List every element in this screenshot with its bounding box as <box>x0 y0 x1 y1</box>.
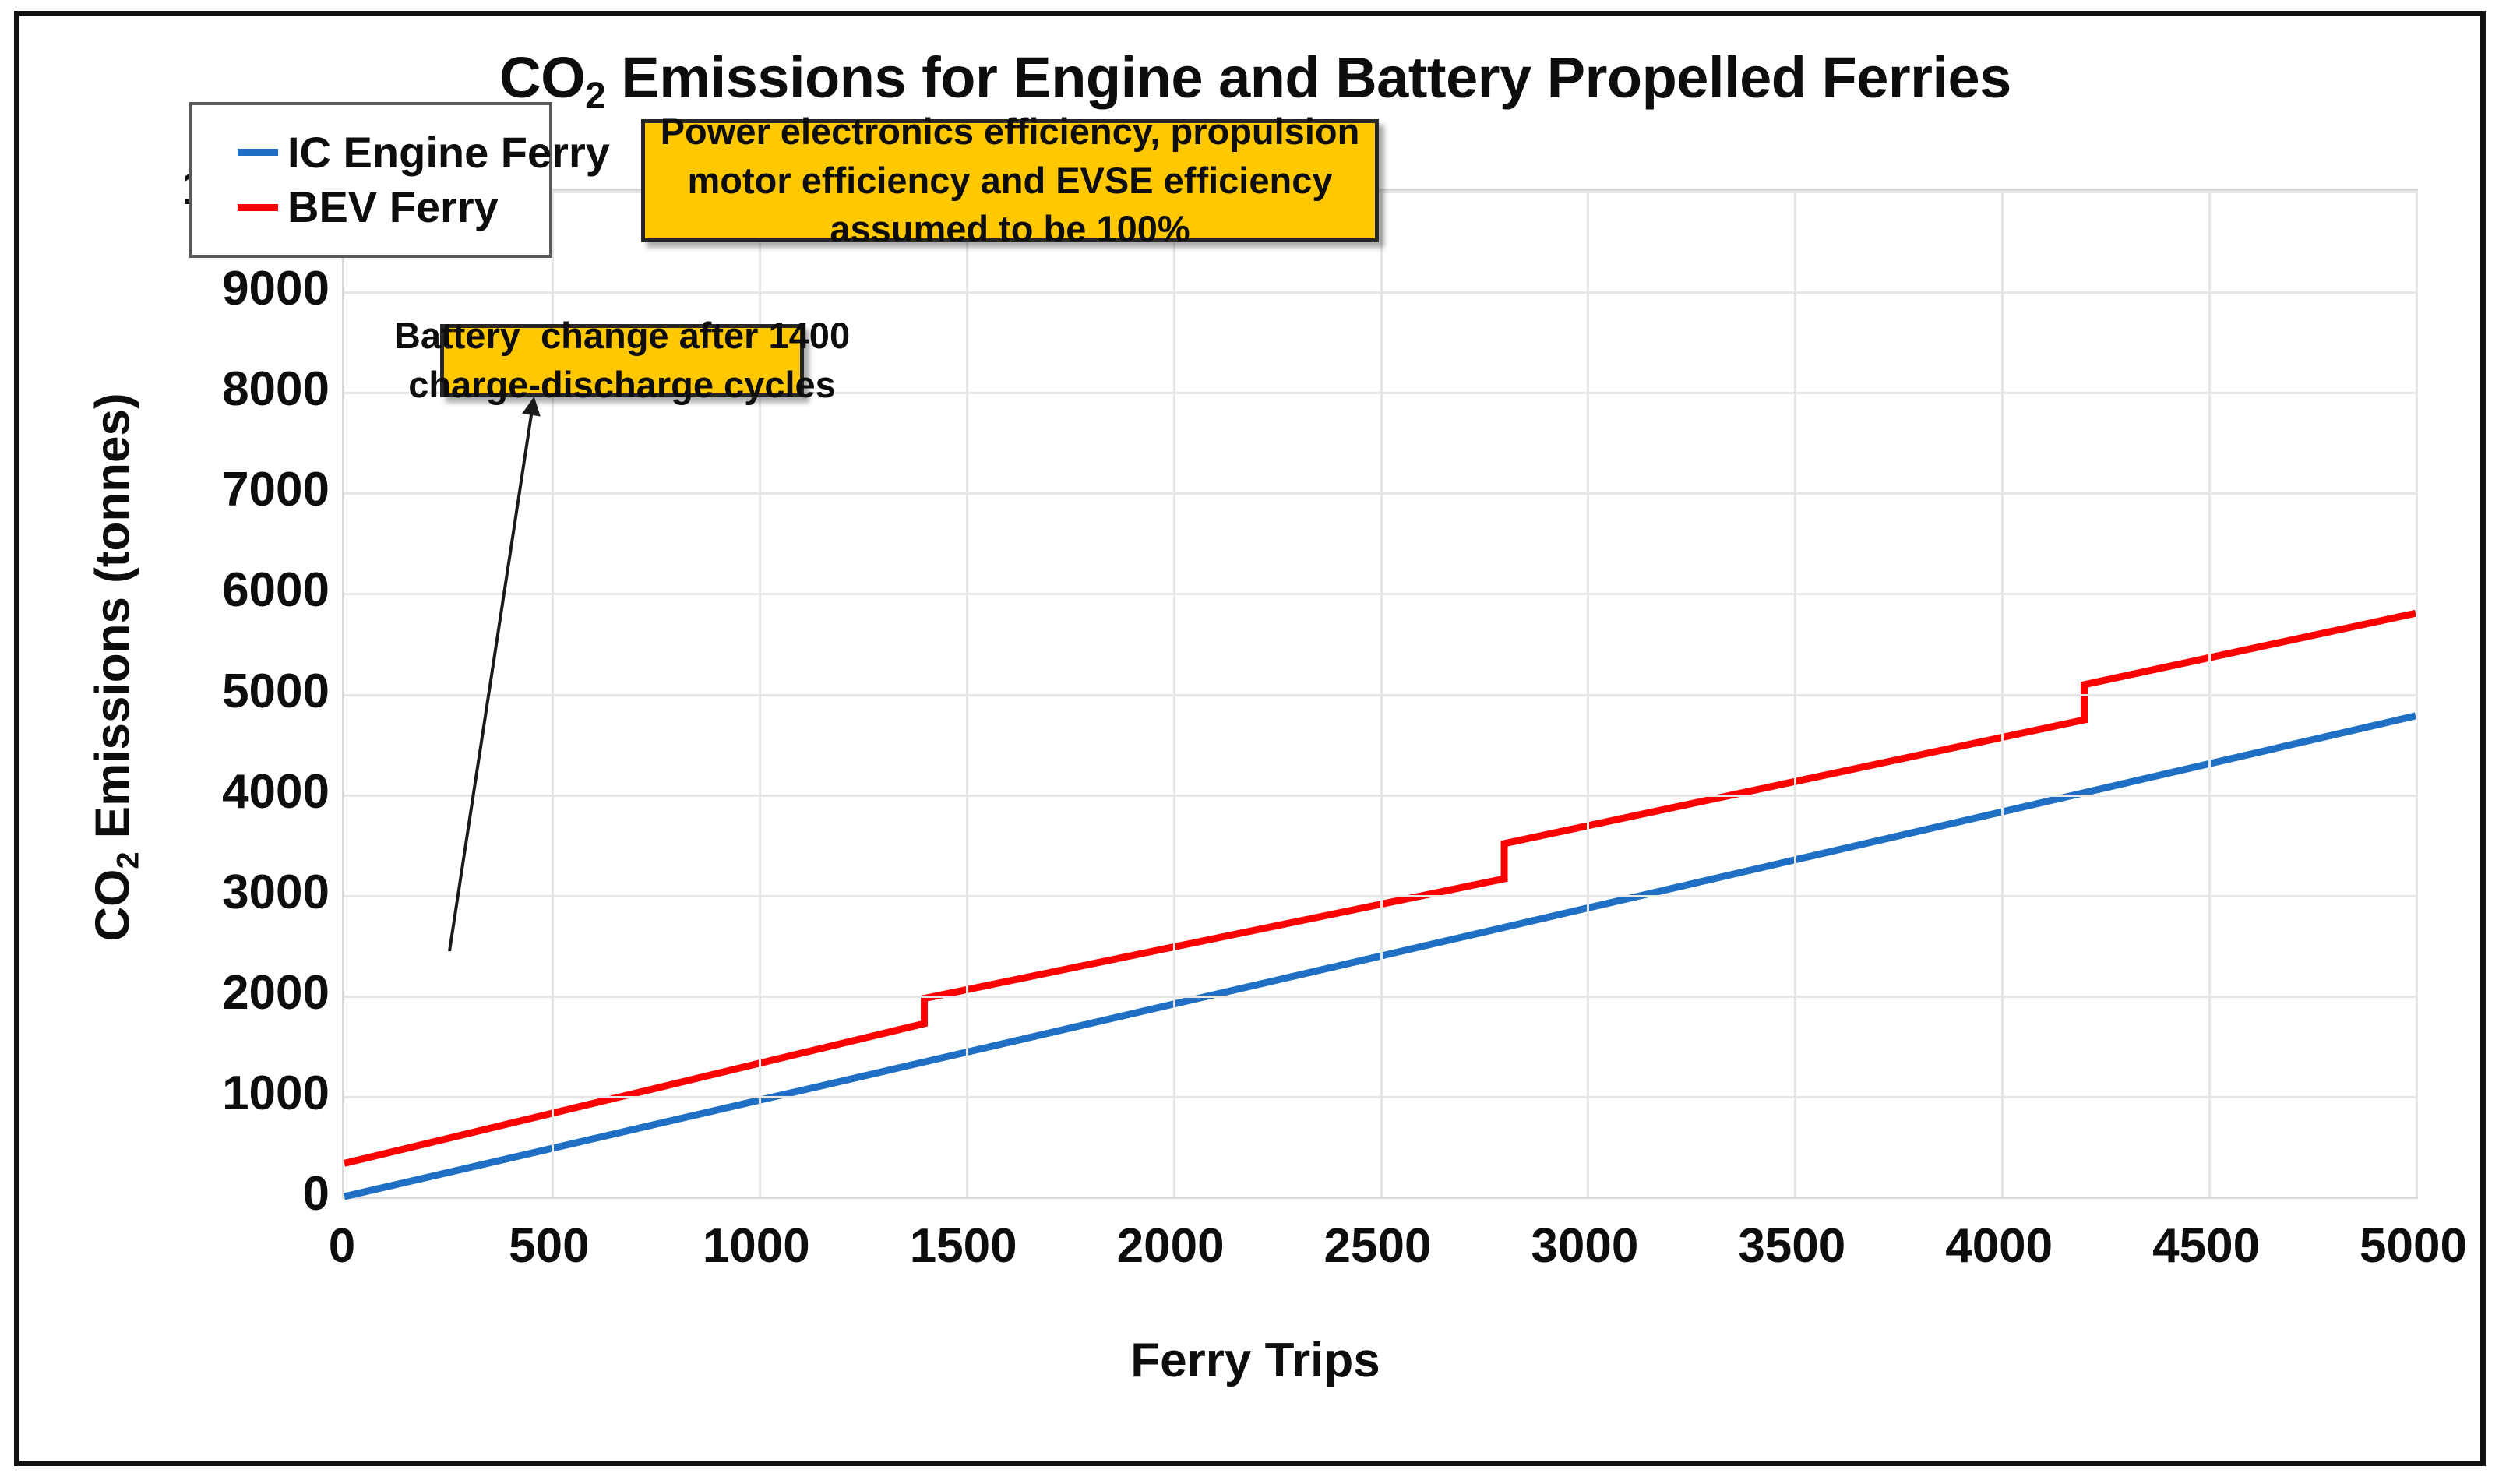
gridline-vertical <box>1794 191 1796 1197</box>
x-axis-tick-label: 1500 <box>847 1222 1080 1271</box>
annotation-text: Battery change after 1400charge-discharg… <box>394 312 850 410</box>
x-axis-tick-labels: 0500100015002000250030003500400045005000 <box>342 1222 2418 1285</box>
y-axis-tick-label: 3000 <box>80 869 330 917</box>
x-axis-tick-label: 2000 <box>1054 1222 1288 1271</box>
gridline-vertical <box>2001 191 2004 1197</box>
chart-title: CO2 Emissions for Engine and Battery Pro… <box>19 49 2491 107</box>
y-axis-tick-label: 4000 <box>80 768 330 816</box>
chart-title-subscript: 2 <box>585 76 605 117</box>
gridline-vertical <box>2416 191 2418 1197</box>
x-axis-tick-label: 3000 <box>1468 1222 1701 1271</box>
x-axis-title: Ferry Trips <box>19 1333 2491 1388</box>
legend-color-swatch-icon <box>238 149 278 156</box>
annotation-text-line: charge-discharge cycles <box>394 361 850 410</box>
annotation-text-line: assumed to be 100% <box>661 205 1360 254</box>
y-axis-tick-label: 9000 <box>80 265 330 313</box>
legend-item-label: IC Engine Ferry <box>287 131 610 174</box>
x-axis-tick-label: 4000 <box>1882 1222 2116 1271</box>
gridline-vertical <box>2208 191 2211 1197</box>
y-axis-tick-labels: 010002000300040005000600070008000900010,… <box>65 189 330 1199</box>
chart-title-main: CO <box>499 45 585 110</box>
x-axis-tick-label: 0 <box>225 1222 459 1271</box>
gridline-vertical <box>1173 191 1175 1197</box>
y-axis-tick-label: 2000 <box>80 969 330 1017</box>
x-axis-tick-label: 2500 <box>1261 1222 1495 1271</box>
y-axis-tick-label: 5000 <box>80 668 330 716</box>
y-axis-tick-label: 6000 <box>80 566 330 615</box>
y-axis-tick-label: 8000 <box>80 365 330 414</box>
gridline-vertical <box>1380 191 1383 1197</box>
x-axis-tick-label: 500 <box>432 1222 666 1271</box>
y-axis-tick-label: 0 <box>80 1170 330 1218</box>
x-axis-tick-label: 4500 <box>2089 1222 2323 1271</box>
y-axis-tick-label: 1000 <box>80 1070 330 1118</box>
legend-item-label: BEV Ferry <box>287 185 499 229</box>
gridline-vertical <box>966 191 968 1197</box>
chart-title-rest: Emissions for Engine and Battery Propell… <box>605 45 2011 110</box>
chart-legend: IC Engine FerryBEV Ferry <box>189 102 552 258</box>
x-axis-tick-label: 1000 <box>640 1222 873 1271</box>
y-axis-tick-label: 7000 <box>80 466 330 514</box>
annotation-text-line: Power electronics efficiency, propulsion <box>661 108 1360 157</box>
annotation-text-line: Battery change after 1400 <box>394 312 850 361</box>
legend-item[interactable]: IC Engine Ferry <box>192 131 549 174</box>
efficiency-annotation-callout: Power electronics efficiency, propulsion… <box>641 119 1379 242</box>
chart-page: CO2 Emissions for Engine and Battery Pro… <box>0 0 2506 1484</box>
chart-frame: CO2 Emissions for Engine and Battery Pro… <box>14 11 2486 1466</box>
x-axis-tick-label: 5000 <box>2296 1222 2506 1271</box>
annotation-text: Power electronics efficiency, propulsion… <box>661 108 1360 255</box>
legend-color-swatch-icon <box>238 204 278 211</box>
battery-change-annotation-callout: Battery change after 1400charge-discharg… <box>440 324 804 397</box>
annotation-text-line: motor efficiency and EVSE efficiency <box>661 157 1360 206</box>
gridline-vertical <box>1587 191 1589 1197</box>
legend-item[interactable]: BEV Ferry <box>192 185 549 229</box>
x-axis-tick-label: 3500 <box>1675 1222 1909 1271</box>
